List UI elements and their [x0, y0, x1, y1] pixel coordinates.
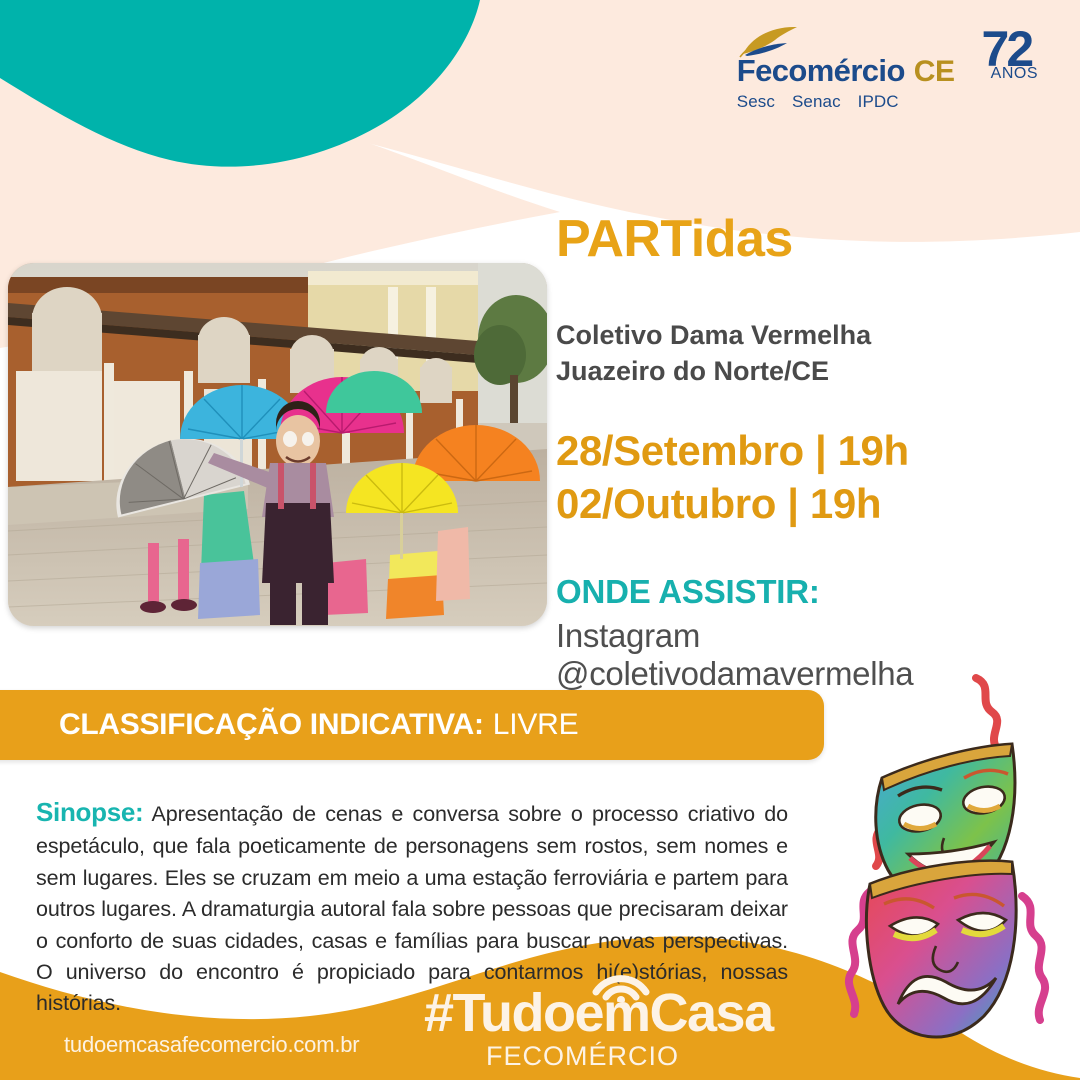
teal-wave-shape [0, 0, 480, 167]
subbrand-sesc: Sesc [737, 92, 775, 112]
page-title: PARTidas [556, 212, 1066, 267]
group-name-block: Coletivo Dama Vermelha Juazeiro do Norte… [556, 317, 1066, 390]
classification-badge: CLASSIFICAÇÃO INDICATIVA: LIVRE [0, 690, 824, 760]
tragedy-mask [866, 861, 1016, 1037]
group-name: Coletivo Dama Vermelha [556, 317, 1066, 353]
group-city: Juazeiro do Norte/CE [556, 353, 1066, 389]
fecomercio-state: CE [914, 57, 955, 87]
show-info: PARTidas Coletivo Dama Vermelha Juazeiro… [556, 212, 1066, 693]
show-photo [8, 263, 547, 626]
theater-masks-illustration [826, 658, 1076, 1078]
wifi-icon [592, 966, 650, 1002]
classification-value: LIVRE [493, 708, 579, 742]
subbrand-ipdc: IPDC [858, 92, 899, 112]
brand-lockup: Fecomércio CE Sesc Senac IPDC 72 ANOS [737, 24, 1038, 112]
poster-canvas: Fecomércio CE Sesc Senac IPDC 72 ANOS [0, 0, 1080, 1080]
anniversary-logo: 72 ANOS [975, 28, 1038, 83]
date-line-1: 28/Setembro | 19h [556, 425, 1066, 478]
subbrand-senac: Senac [792, 92, 841, 112]
fecomercio-wordmark: Fecomércio [737, 55, 905, 86]
website-url[interactable]: tudoemcasafecomercio.com.br [64, 1032, 359, 1058]
anniversary-label: ANOS [991, 65, 1038, 83]
campaign-subtitle: FECOMÉRCIO [486, 1041, 764, 1072]
fecomercio-logo: Fecomércio CE Sesc Senac IPDC [737, 24, 955, 112]
dates-list: 28/Setembro | 19h 02/Outubro | 19h [556, 425, 1066, 531]
synopsis-label: Sinopse: [36, 797, 143, 827]
subbrand-list: Sesc Senac IPDC [737, 92, 899, 112]
campaign-logo: #TudoemCasa FECOMÉRCIO [424, 986, 764, 1072]
classification-label: CLASSIFICAÇÃO INDICATIVA: [59, 708, 484, 742]
date-line-2: 02/Outubro | 19h [556, 478, 1066, 531]
where-to-watch-label: ONDE ASSISTIR: [556, 573, 1066, 611]
